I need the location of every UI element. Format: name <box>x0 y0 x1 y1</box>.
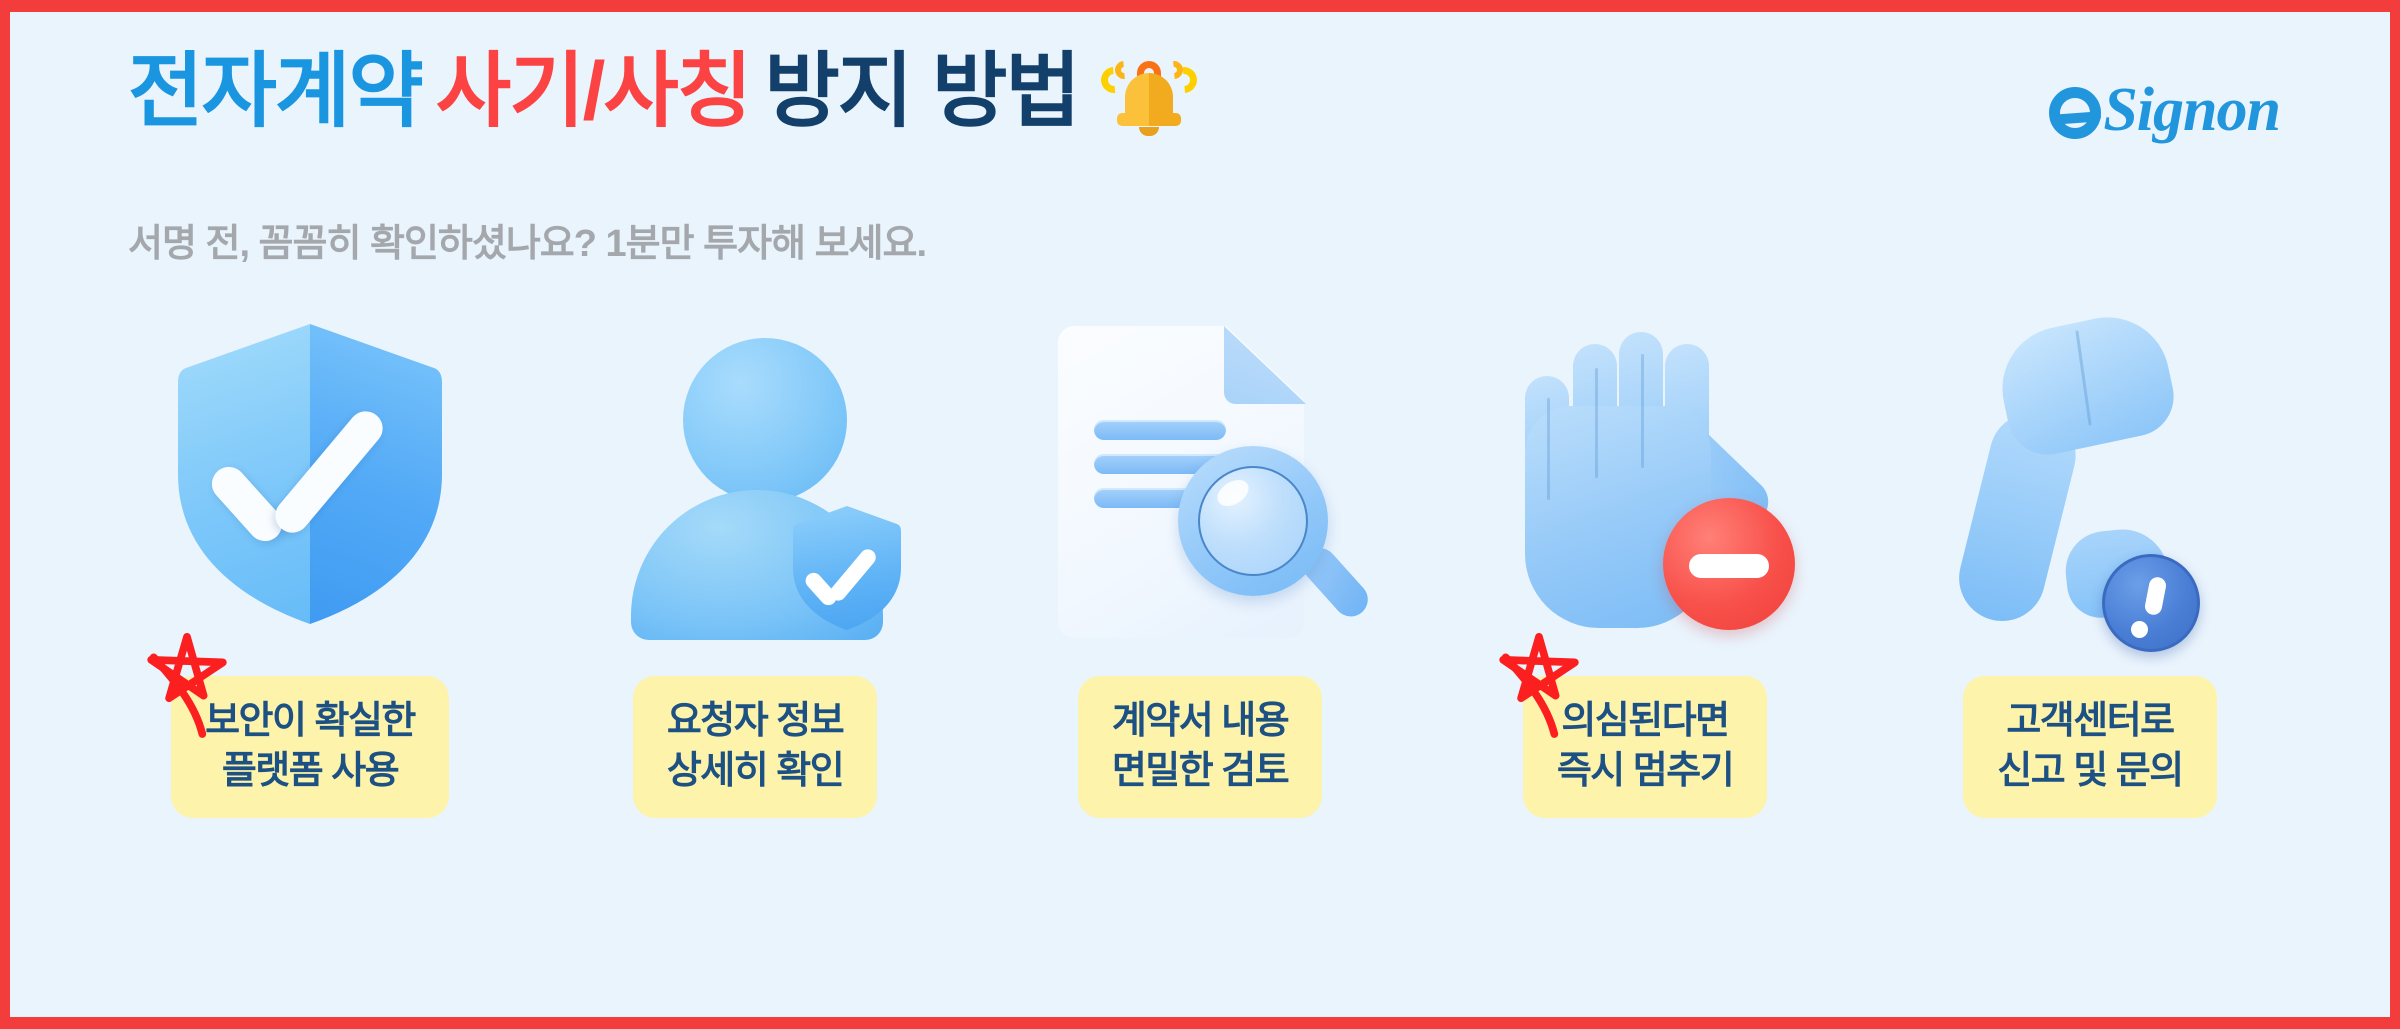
tip-label-4: 의심된다면 즉시 멈추기 <box>1523 676 1767 818</box>
logo-wordmark: Signon <box>2103 76 2280 144</box>
tip-item-2: 요청자 정보 상세히 확인 <box>555 312 955 818</box>
tip-label-4-line2: 즉시 멈추기 <box>1557 746 1733 796</box>
tip-label-1-line2: 플랫폼 사용 <box>205 746 415 796</box>
phone-alert-icon <box>1930 312 2250 662</box>
logo-e-mark <box>2049 87 2101 139</box>
page-title: 전자계약사기/사칭방지 방법 <box>128 44 1195 141</box>
tips-row: 보안이 확실한 플랫폼 사용 요청자 정보 상세히 확인 <box>0 312 2400 1002</box>
tip-label-1-line1: 보안이 확실한 <box>205 700 415 742</box>
user-verified-icon <box>595 312 915 662</box>
tip-label-3-line1: 계약서 내용 <box>1112 700 1288 742</box>
tip-label-4-line1: 의심된다면 <box>1561 700 1728 742</box>
infographic-poster: 전자계약사기/사칭방지 방법 서명 전, 꼼꼼히 확인하셨나요? 1분만 투자해… <box>0 0 2400 1029</box>
title-text: 전자계약사기/사칭방지 방법 <box>128 44 1079 141</box>
title-part-2: 사기/사칭 <box>436 46 751 137</box>
tip-item-4: 의심된다면 즉시 멈추기 <box>1445 312 1845 818</box>
tip-label-5-line1: 고객센터로 <box>2006 700 2173 742</box>
tip-item-5: 고객센터로 신고 및 문의 <box>1890 312 2290 818</box>
header: 전자계약사기/사칭방지 방법 서명 전, 꼼꼼히 확인하셨나요? 1분만 투자해… <box>0 12 2400 312</box>
tip-label-1: 보안이 확실한 플랫폼 사용 <box>171 676 449 818</box>
bell-icon <box>1103 47 1195 139</box>
tip-label-3: 계약서 내용 면밀한 검토 <box>1078 676 1322 818</box>
tip-label-5-line2: 신고 및 문의 <box>1997 746 2182 796</box>
title-part-1: 전자계약 <box>128 46 422 137</box>
logo-text: Signon <box>2049 79 2280 141</box>
tip-label-2-line1: 요청자 정보 <box>667 700 843 742</box>
shield-check-icon <box>150 312 470 662</box>
tip-label-2-line2: 상세히 확인 <box>667 746 843 796</box>
stop-hand-icon <box>1485 312 1805 662</box>
subtitle: 서명 전, 꼼꼼히 확인하셨나요? 1분만 투자해 보세요. <box>128 212 926 267</box>
tip-label-5: 고객센터로 신고 및 문의 <box>1963 676 2216 818</box>
title-part-3: 방지 방법 <box>764 46 1079 137</box>
tip-item-3: 계약서 내용 면밀한 검토 <box>1000 312 1400 818</box>
document-search-icon <box>1040 312 1360 662</box>
tip-label-2: 요청자 정보 상세히 확인 <box>633 676 877 818</box>
tip-item-1: 보안이 확실한 플랫폼 사용 <box>110 312 510 818</box>
tip-label-3-line2: 면밀한 검토 <box>1112 746 1288 796</box>
brand-logo[interactable]: Signon <box>1980 60 2280 160</box>
